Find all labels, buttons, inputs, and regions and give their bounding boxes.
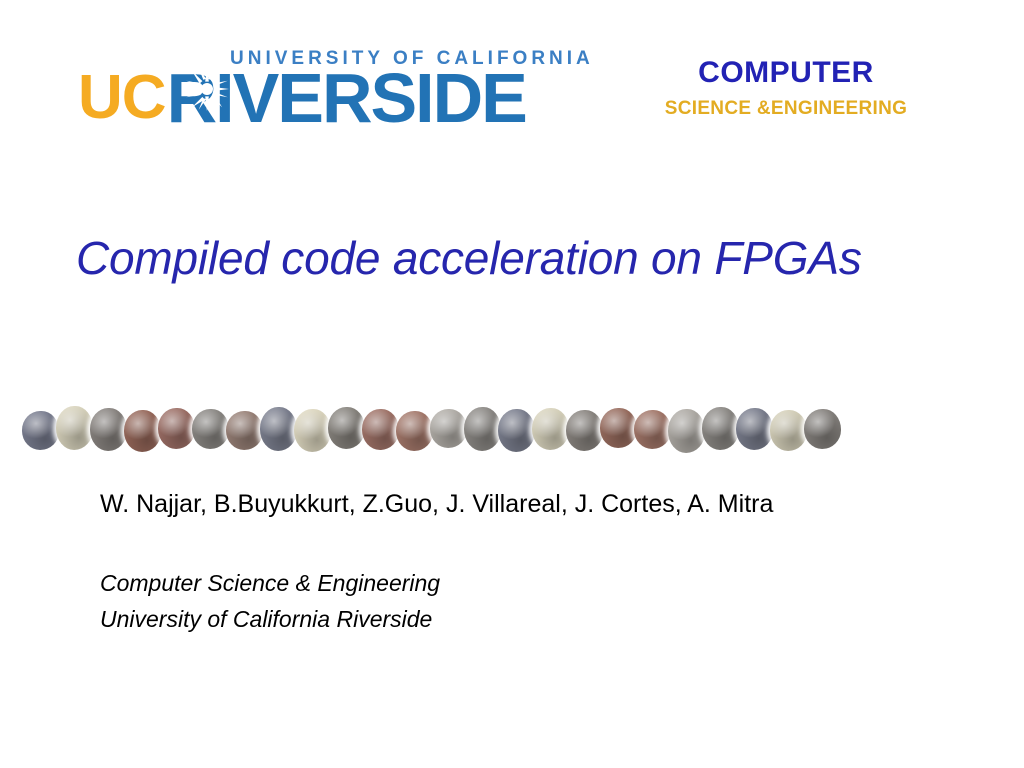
authors-line: W. Najjar, B.Buyukkurt, Z.Guo, J. Villar… (100, 490, 773, 519)
stone (396, 411, 433, 451)
stone (430, 409, 467, 448)
stone (226, 411, 263, 450)
ucr-logo: UNIVERSITY OF CALIFORNIA UCRIVERSIDE (78, 44, 528, 140)
stone (498, 409, 535, 452)
stone (362, 409, 399, 450)
affiliation-line1: Computer Science & Engineering (100, 565, 440, 601)
department-mark-line1: COMPUTER (636, 56, 936, 90)
affiliation-block: Computer Science & Engineering Universit… (100, 565, 440, 637)
stone (22, 411, 59, 450)
stone (90, 408, 127, 451)
stone (260, 407, 297, 451)
stone (668, 409, 705, 453)
stone (158, 408, 195, 449)
stone (56, 406, 93, 450)
stone (464, 407, 501, 451)
logo-wordmark: UCRIVERSIDE (78, 63, 526, 133)
stone (532, 408, 569, 450)
stone (566, 410, 603, 451)
stone (804, 409, 841, 449)
logo-uc-text: UC (78, 63, 166, 132)
stone (192, 409, 229, 449)
stone (328, 407, 365, 449)
logo-riverside-text: RIVERSIDE (167, 59, 526, 137)
stone (634, 410, 671, 449)
slide-canvas: UNIVERSITY OF CALIFORNIA UCRIVERSIDE (0, 0, 1024, 768)
stone (770, 410, 807, 451)
department-mark: COMPUTER SCIENCE &ENGINEERING (636, 56, 936, 122)
stone (124, 410, 161, 452)
stone-border-divider (22, 402, 1012, 456)
stone (294, 409, 331, 452)
stone (702, 407, 739, 450)
stone (600, 408, 637, 448)
stone (736, 408, 773, 450)
affiliation-line2: University of California Riverside (100, 601, 440, 637)
department-mark-line2: SCIENCE &ENGINEERING (636, 96, 936, 122)
page-title: Compiled code acceleration on FPGAs (76, 222, 876, 294)
